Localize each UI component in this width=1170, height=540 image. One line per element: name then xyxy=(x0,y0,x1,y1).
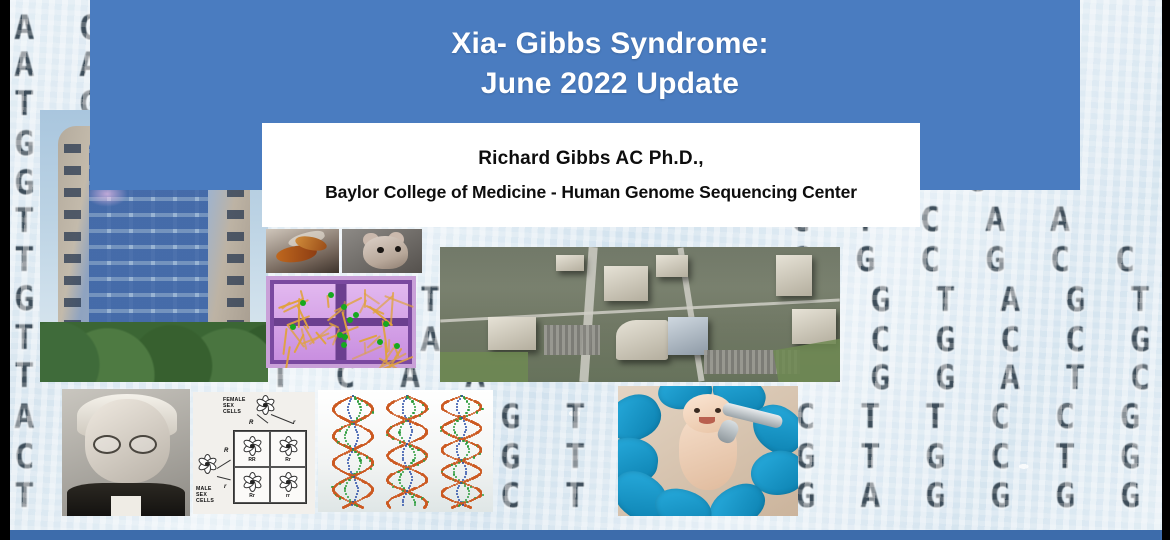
gregor-mendel-portrait xyxy=(62,389,190,516)
dna-sequence-row: C G C G C C xyxy=(790,240,1147,280)
dna-sequence-row: C xyxy=(14,437,46,477)
punnett-side-allele-r: r xyxy=(224,484,226,490)
baby-in-bath-photo xyxy=(618,386,798,516)
title-line-2: June 2022 Update xyxy=(290,64,930,104)
punnett-cell-genotype: Rr xyxy=(285,457,291,463)
punnett-square-diagram: FEMALE SEX CELLS MALE SEX CELLS R r R r … xyxy=(193,392,315,514)
fruit-fly-photo xyxy=(266,229,339,273)
lab-mouse-photo xyxy=(342,229,422,273)
punnett-grid: RR Rr Rr rr xyxy=(233,430,307,504)
page-title: Xia- Gibbs Syndrome: June 2022 Update xyxy=(290,24,930,104)
punnett-cell-genotype: RR xyxy=(248,457,255,463)
punnett-cell: rr xyxy=(270,467,306,503)
punnett-side-allele-R: R xyxy=(224,448,228,454)
dna-sequence-row: G T G C T G G G xyxy=(795,437,1162,477)
dna-double-helix-models xyxy=(318,390,493,512)
punnett-cell-genotype: Rr xyxy=(249,493,255,499)
presentation-slide: A GA AT GGGTTGTTACTTAT C A AG T TG T GC … xyxy=(0,0,1170,540)
punnett-top-allele-R: R xyxy=(249,420,253,426)
dna-sequence-row: C G C C G G xyxy=(870,320,1162,360)
punnett-cell: Rr xyxy=(234,467,270,503)
left-frame-border xyxy=(0,0,10,540)
punnett-parent-flower-male xyxy=(197,454,217,474)
punnett-top-allele-r: r xyxy=(293,420,295,426)
dna-sequence-row: G T A G T A xyxy=(870,280,1162,320)
punnett-parent-flower-female xyxy=(255,395,275,415)
dna-sequence-row: T xyxy=(14,476,46,516)
bottom-accent-strip xyxy=(10,530,1162,540)
punnett-cell: Rr xyxy=(270,431,306,467)
speaker-name: Richard Gibbs AC Ph.D., xyxy=(478,148,704,170)
punnett-female-label-3: CELLS xyxy=(223,409,241,415)
dna-sequence-row: G A G G G G C A xyxy=(795,476,1162,516)
punnett-cell-genotype: rr xyxy=(286,493,290,499)
dna-sequence-row: G G A T C A xyxy=(870,358,1162,398)
speaker-card: Richard Gibbs AC Ph.D., Baylor College o… xyxy=(262,123,920,227)
dna-sequence-row: C T T C C G C T xyxy=(795,397,1162,437)
right-frame-border xyxy=(1162,0,1170,540)
speaker-affiliation: Baylor College of Medicine - Human Genom… xyxy=(325,182,857,203)
punnett-cell: RR xyxy=(234,431,270,467)
dna-sequence-row: A xyxy=(14,397,46,437)
aerial-medical-campus-photo xyxy=(440,247,840,382)
punnett-male-label-3: CELLS xyxy=(196,498,214,504)
title-line-1: Xia- Gibbs Syndrome: xyxy=(451,27,768,60)
chromosome-meiosis-diagram xyxy=(266,276,416,368)
